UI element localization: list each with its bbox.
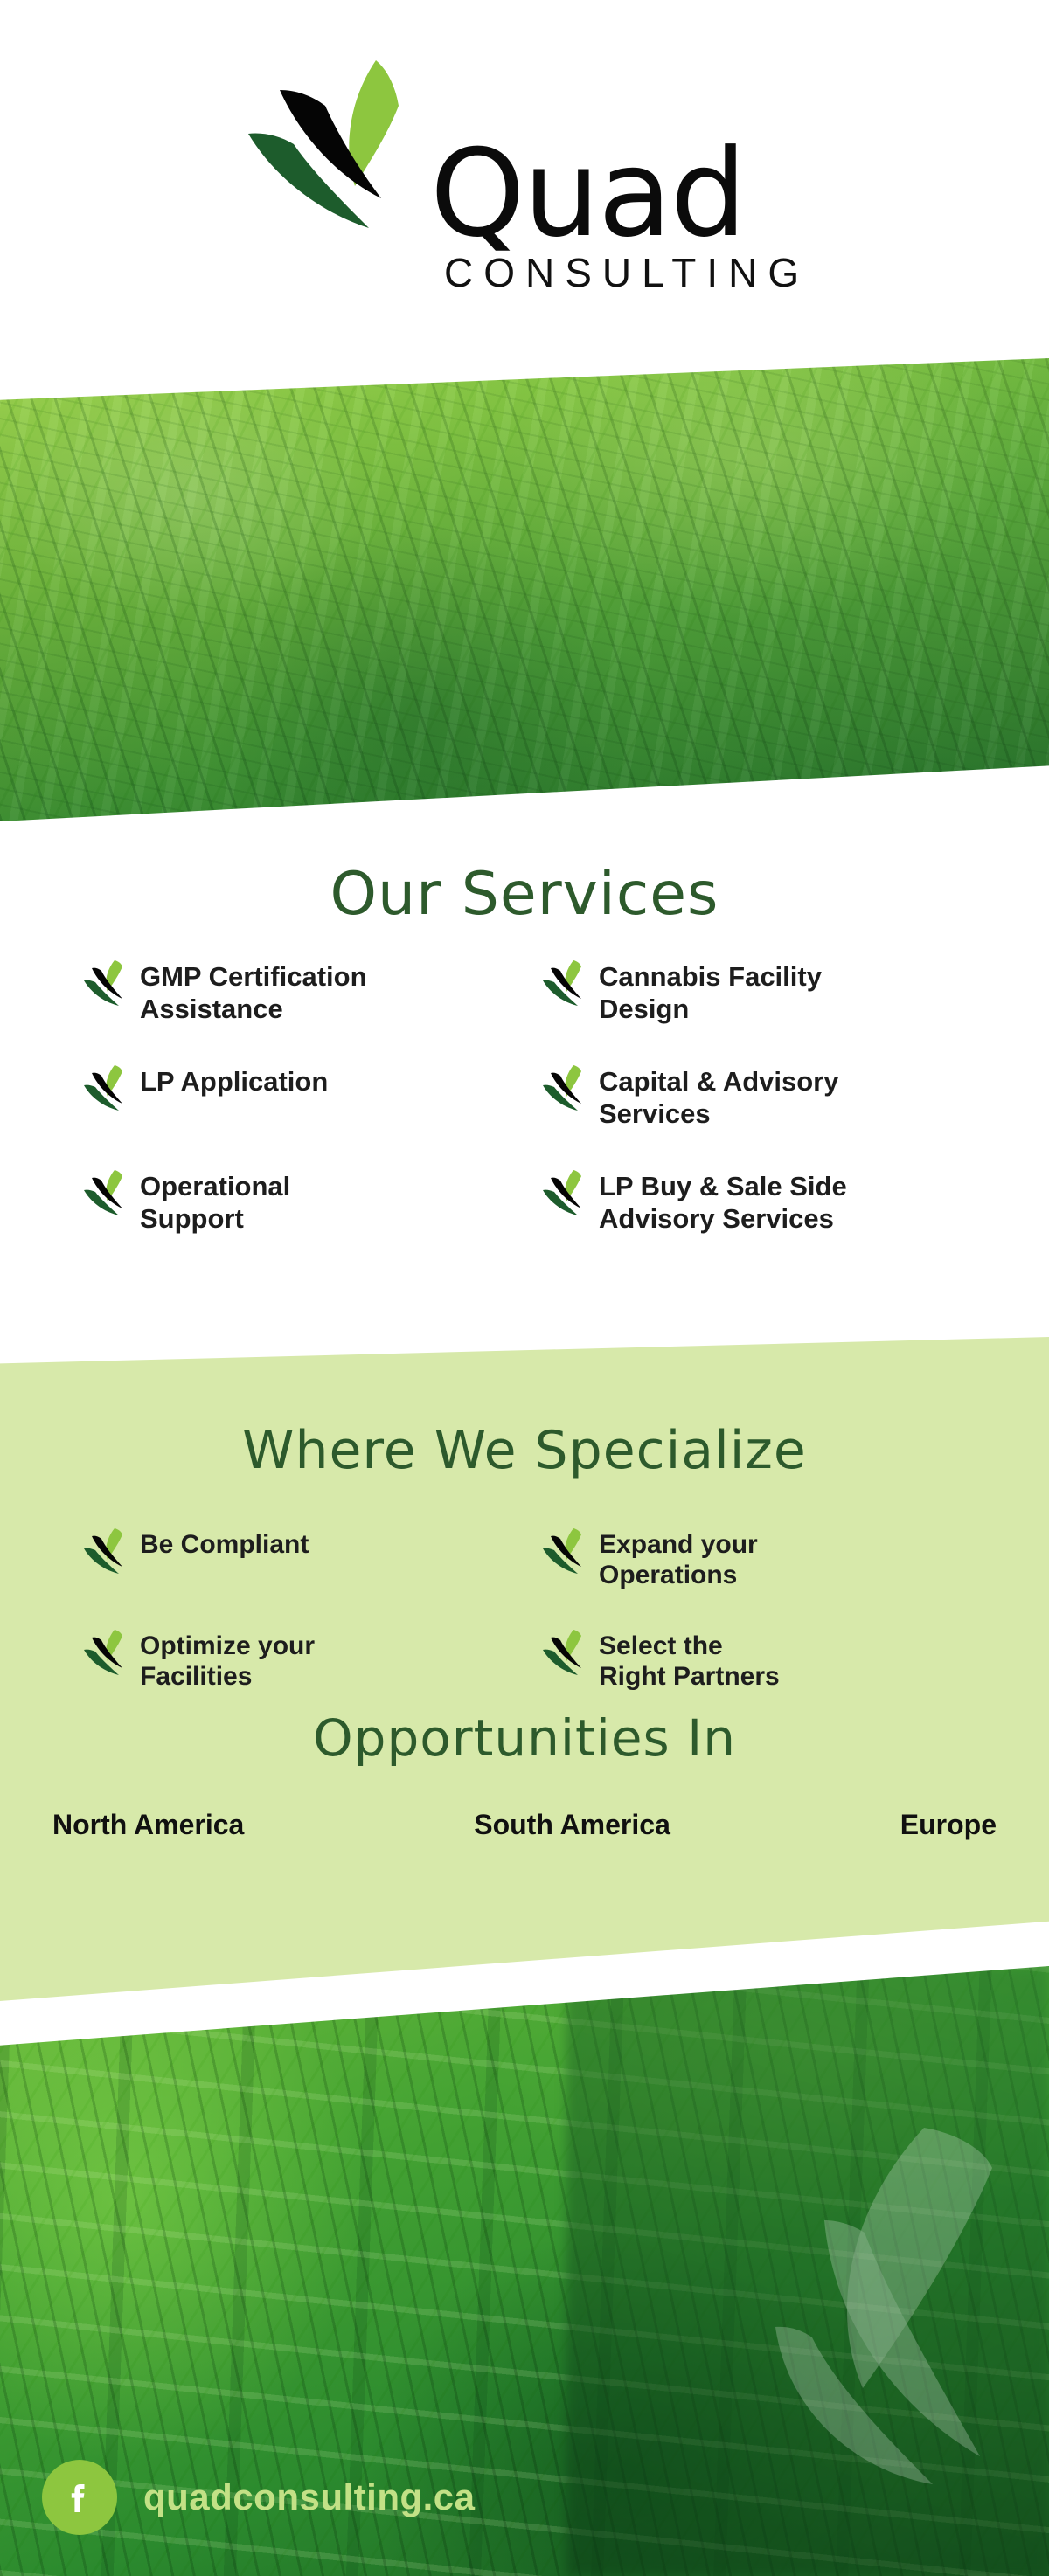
region-label: Europe [900, 1809, 997, 1841]
services-grid: GMP Certification Assistance Cannabis Fa… [83, 957, 975, 1235]
list-item[interactable]: Be Compliant [83, 1525, 516, 1591]
service-label: LP Application [140, 1062, 328, 1098]
service-label: GMP Certification Assistance [140, 957, 367, 1025]
footer-bar: quadconsulting.ca [0, 2419, 1049, 2576]
list-item[interactable]: Cannabis Facility Design [542, 957, 975, 1025]
specialize-label: Optimize your Facilities [140, 1626, 315, 1693]
leaf-bullet-icon [83, 959, 129, 1006]
leaf-bullet-icon [542, 1168, 587, 1215]
services-section: Our Services GMP Certification Assistanc… [0, 826, 1049, 1337]
specialize-section: Where We Specialize Be Compliant Expand … [0, 1337, 1049, 2001]
specialize-label: Select the Right Partners [599, 1626, 780, 1693]
leaf-bullet-icon [542, 1063, 587, 1111]
leaf-bullet-icon [83, 1527, 129, 1574]
leaf-bullet-icon [83, 1063, 129, 1111]
services-title: Our Services [0, 826, 1049, 924]
specialize-label: Expand your Operations [599, 1525, 758, 1591]
logo-wordmark: Quad [430, 134, 745, 254]
list-item[interactable]: Expand your Operations [542, 1525, 975, 1591]
facebook-f-glyph [59, 2477, 100, 2517]
list-item[interactable]: Select the Right Partners [542, 1626, 975, 1693]
three-leaf-logo-icon [245, 53, 446, 246]
list-item[interactable]: Optimize your Facilities [83, 1626, 516, 1693]
leaf-bullet-icon [542, 959, 587, 1006]
hero-green-tint-overlay [0, 358, 1049, 821]
leaf-bullet-icon [542, 1527, 587, 1574]
opportunity-regions: North America South America Europe [52, 1809, 997, 1841]
list-item[interactable]: LP Buy & Sale Side Advisory Services [542, 1167, 975, 1235]
leaf-bullet-icon [83, 1628, 129, 1675]
logo-tagline: CONSULTING [444, 253, 809, 293]
opportunities-title: Opportunities In [0, 1713, 1049, 1763]
list-item[interactable]: Operational Support [83, 1167, 516, 1235]
service-label: Operational Support [140, 1167, 290, 1235]
footer-photo: quadconsulting.ca [0, 1966, 1049, 2576]
leaf-bullet-icon [83, 1168, 129, 1215]
service-label: Capital & Advisory Services [599, 1062, 838, 1130]
region-label: North America [52, 1809, 244, 1841]
list-item[interactable]: Capital & Advisory Services [542, 1062, 975, 1130]
specialize-title: Where We Specialize [0, 1337, 1049, 1477]
service-label: LP Buy & Sale Side Advisory Services [599, 1167, 847, 1235]
region-label: South America [474, 1809, 670, 1841]
specialize-grid: Be Compliant Expand your Operations Opti… [83, 1525, 975, 1693]
banner-page: Quad CONSULTING Our Services GMP Certifi… [0, 0, 1049, 2576]
brand-logo: Quad CONSULTING [0, 38, 1049, 336]
leaf-bullet-icon [542, 1628, 587, 1675]
list-item[interactable]: LP Application [83, 1062, 516, 1130]
facebook-icon[interactable] [42, 2460, 117, 2535]
hero-top-photo [0, 358, 1049, 821]
list-item[interactable]: GMP Certification Assistance [83, 957, 516, 1025]
website-url[interactable]: quadconsulting.ca [143, 2476, 476, 2518]
service-label: Cannabis Facility Design [599, 957, 822, 1025]
specialize-label: Be Compliant [140, 1525, 309, 1560]
